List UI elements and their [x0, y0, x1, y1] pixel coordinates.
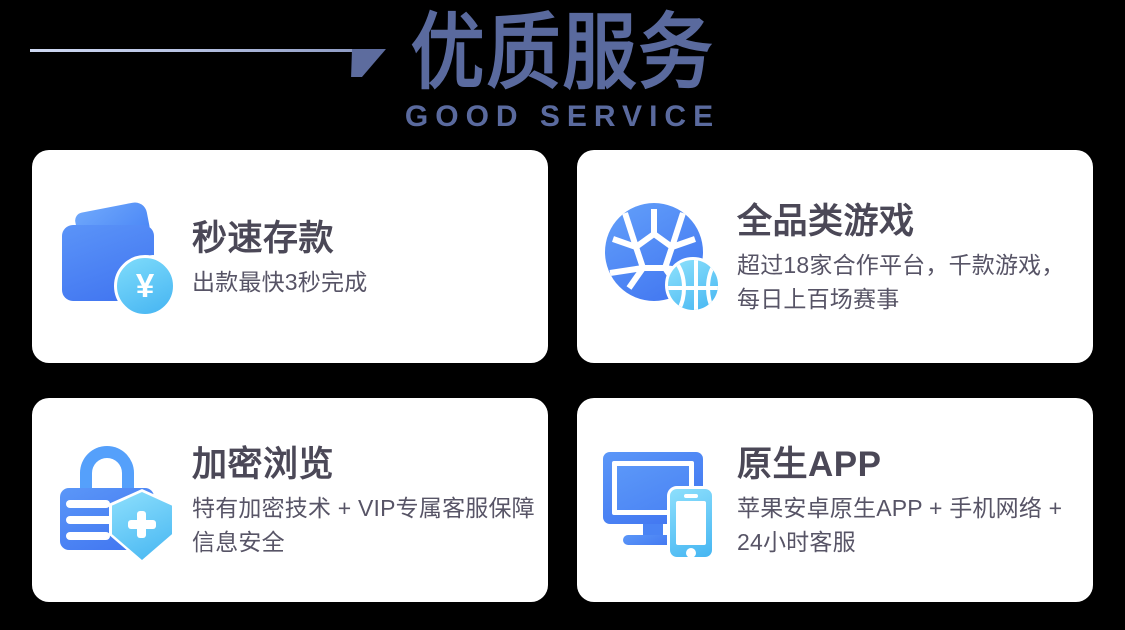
header-title-en: GOOD SERVICE [0, 100, 1125, 134]
feature-card-grid: ¥ 秒速存款 出款最快3秒完成 [32, 150, 1093, 602]
phone-home-button [686, 548, 696, 558]
card-description: 苹果安卓原生APP + 手机网络 + 24小时客服 [737, 491, 1082, 559]
soccer-basketball-icon [599, 199, 727, 315]
phone-speaker [684, 494, 698, 498]
card-text: 全品类游戏 超过18家合作平台，千款游戏，每日上百场赛事 [737, 198, 1082, 316]
feature-card-deposit[interactable]: ¥ 秒速存款 出款最快3秒完成 [32, 150, 548, 363]
wallet-icon: ¥ [54, 199, 182, 315]
card-title: 秒速存款 [192, 217, 367, 261]
card-text: 秒速存款 出款最快3秒完成 [192, 215, 367, 299]
feature-card-games[interactable]: 全品类游戏 超过18家合作平台，千款游戏，每日上百场赛事 [577, 150, 1093, 363]
lock-shield-icon [54, 442, 182, 558]
banner-header: 优质服务 GOOD SERVICE [0, 0, 1125, 150]
card-title: 原生APP [737, 443, 1082, 487]
card-description: 超过18家合作平台，千款游戏，每日上百场赛事 [737, 248, 1082, 316]
header-title-cn: 优质服务 [0, 6, 1125, 100]
basketball-icon [665, 257, 721, 313]
card-text: 加密浏览 特有加密技术 + VIP专属客服保障信息安全 [192, 441, 537, 559]
card-title: 全品类游戏 [737, 200, 1082, 244]
plus-icon [137, 511, 146, 538]
lock-stripe [66, 532, 110, 540]
promo-banner: 优质服务 GOOD SERVICE ¥ 秒速存款 出款最快3秒完成 [0, 0, 1125, 630]
yen-coin-icon: ¥ [114, 255, 176, 317]
card-description: 特有加密技术 + VIP专属客服保障信息安全 [192, 491, 537, 559]
monitor-phone-icon [599, 442, 727, 558]
card-title: 加密浏览 [192, 443, 537, 487]
card-text: 原生APP 苹果安卓原生APP + 手机网络 + 24小时客服 [737, 441, 1082, 559]
feature-card-encryption[interactable]: 加密浏览 特有加密技术 + VIP专属客服保障信息安全 [32, 398, 548, 602]
phone-screen [676, 501, 706, 545]
feature-card-native-app[interactable]: 原生APP 苹果安卓原生APP + 手机网络 + 24小时客服 [577, 398, 1093, 602]
phone-icon [667, 486, 715, 560]
lock-stripe [66, 500, 110, 508]
card-description: 出款最快3秒完成 [192, 265, 367, 299]
